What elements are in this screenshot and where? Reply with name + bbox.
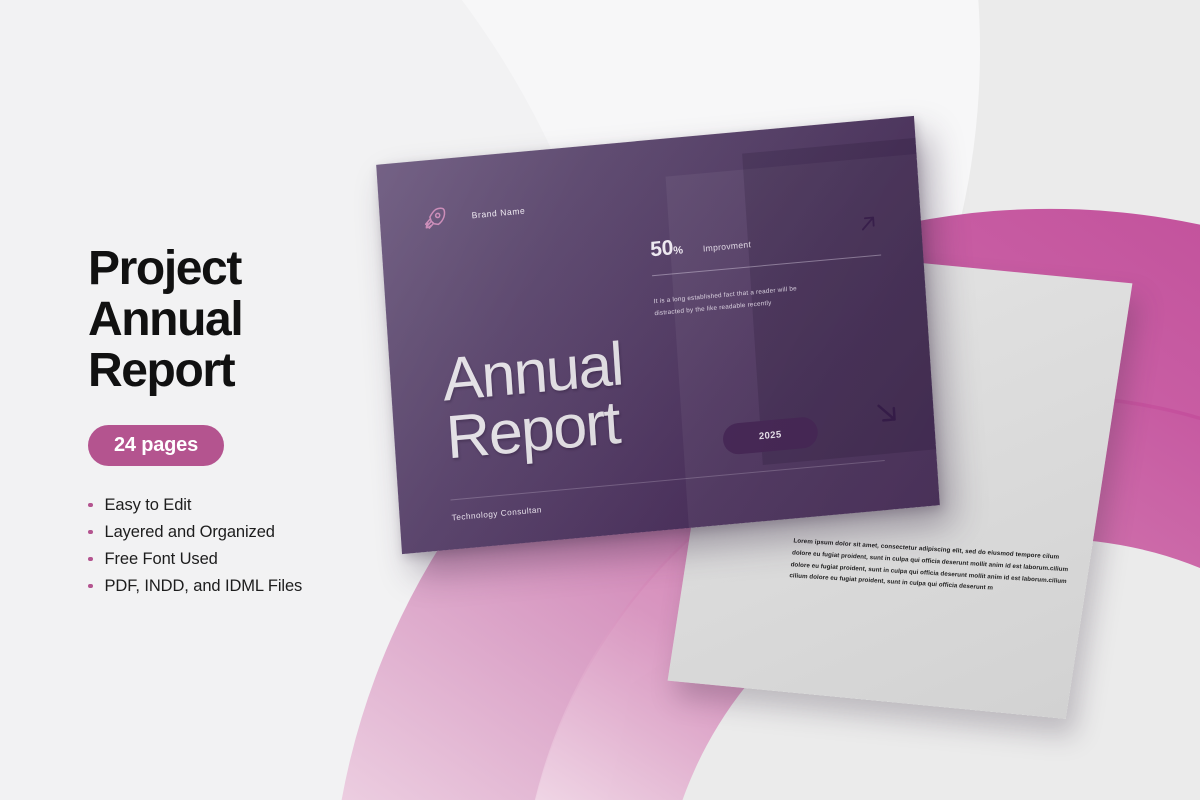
feature-label: Free Font Used [105, 550, 218, 569]
bullet-dot-icon [88, 530, 93, 535]
list-item: Free Font Used [88, 550, 388, 569]
page-title: Project Annual Report [88, 244, 388, 397]
headline-line: Annual [88, 295, 388, 346]
stat-number: 50 [650, 236, 674, 262]
bullet-dot-icon [88, 503, 93, 508]
brand-name-label: Brand Name [471, 206, 525, 221]
stat-percent-sign: % [673, 244, 684, 257]
promo-copy: Project Annual Report 24 pages Easy to E… [88, 244, 388, 604]
stat-label: Improvment [703, 239, 752, 253]
rocket-icon [421, 205, 449, 233]
pages-count-badge: 24 pages [88, 425, 224, 466]
feature-list: Easy to Edit Layered and Organized Free … [88, 496, 388, 596]
cover-title-line: Report [445, 393, 628, 467]
report-cover: Brand Name 50 % Improvment It is a long … [376, 116, 940, 554]
cover-brand: Brand Name [421, 198, 526, 233]
arrow-down-right-icon [871, 396, 903, 429]
headline-line: Report [88, 346, 388, 397]
back-page-body-text: Lorem ipsum dolor sit amet, consectetur … [789, 538, 1044, 595]
arrow-up-right-icon [856, 212, 879, 236]
feature-label: Easy to Edit [105, 496, 192, 515]
list-item: PDF, INDD, and IDML Files [88, 577, 388, 596]
list-item: Layered and Organized [88, 523, 388, 542]
list-item: Easy to Edit [88, 496, 388, 515]
cover-footer-label: Technology Consultan [451, 505, 542, 522]
headline-line: Project [88, 244, 388, 295]
mockup-stage: Report Lorem ipsum dolor sit amet, conse… [0, 0, 1200, 800]
cover-title: Annual Report [441, 335, 628, 467]
bullet-dot-icon [88, 584, 93, 589]
feature-label: Layered and Organized [105, 523, 275, 542]
feature-label: PDF, INDD, and IDML Files [105, 577, 303, 596]
bullet-dot-icon [88, 557, 93, 562]
